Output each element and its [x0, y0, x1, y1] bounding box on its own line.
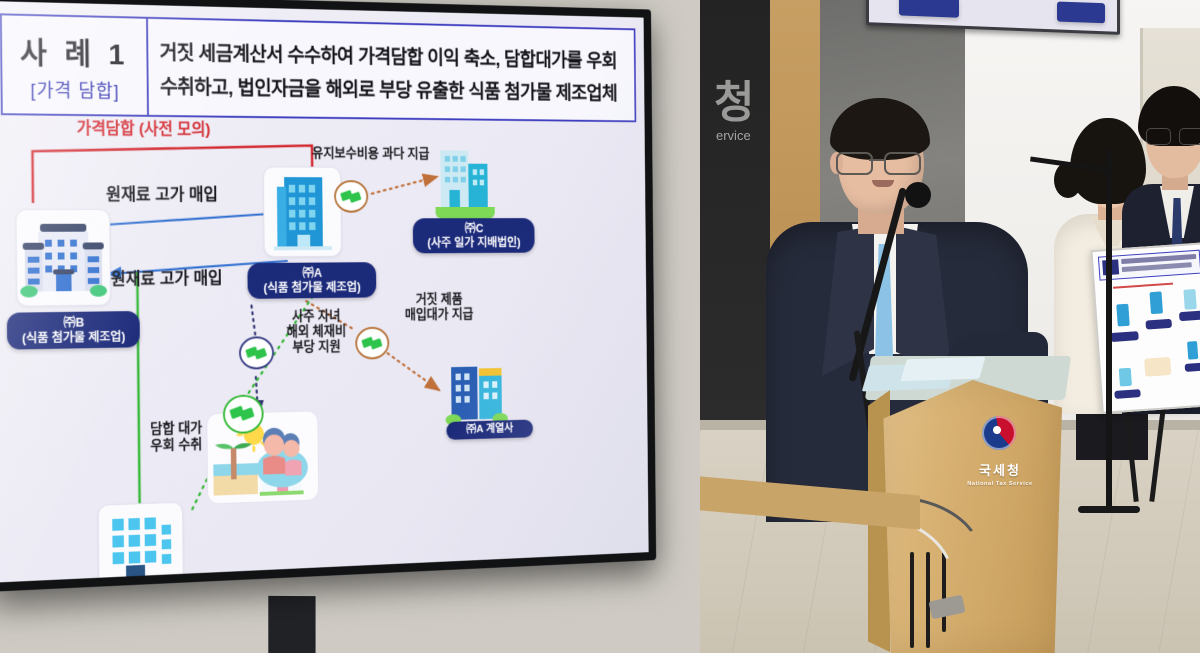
edge-label-maintenance-fee: 유지보수비용 과다 지급 — [312, 146, 430, 162]
money-icon-maintenance — [334, 180, 368, 213]
title-line-1: 거짓 세금계산서 수수하여 가격담합 이익 축소, 담합대가를 우회 — [159, 35, 624, 73]
slide-header: 사 례 1 [가격 담합] 거짓 세금계산서 수수하여 가격담합 이익 축소, … — [0, 13, 636, 122]
podium-paper-2 — [900, 357, 985, 382]
node-company-a-line1: ㈜A — [302, 266, 322, 280]
edge-label-overseas-line1: 사주 자녀 — [286, 308, 346, 324]
podium-agency-name-ko: 국세청 — [979, 463, 1021, 478]
banknote-glyph — [243, 340, 271, 366]
title-line-2: 수취하고, 법인자금을 해외로 부당 유출한 식품 첨가물 제조업체 — [160, 69, 625, 105]
case-tag: [가격 담합] — [30, 75, 119, 103]
edge-label-kickback: 담합 대가 우회 수취 — [150, 419, 202, 453]
board-icon-a — [1149, 291, 1163, 314]
speaker-hair — [830, 98, 930, 160]
overseas-family-illustration-icon — [207, 411, 318, 503]
edge-label-overseas-line3: 부당 지원 — [287, 339, 347, 356]
node-company-a-affiliate-label: ㈜A 계열사 — [466, 423, 513, 436]
money-icon-fake-goods — [355, 327, 389, 360]
board-header-line-2 — [1122, 262, 1192, 272]
tv-stand-neck — [268, 596, 315, 653]
presentation-display: 사 례 1 [가격 담합] 거짓 세금계산서 수수하여 가격담합 이익 축소, … — [0, 0, 656, 592]
microphone-head-icon — [905, 182, 931, 208]
mic-stand-pole — [1106, 150, 1112, 510]
edge-label-collusion: 가격담합 (사전 모의) — [77, 120, 211, 141]
board-chip-a — [1145, 319, 1172, 330]
speaker-mouth — [872, 180, 894, 187]
buildings-cyan-icon — [430, 143, 500, 219]
podium-agency-name-en: National Tax Service — [964, 481, 1036, 487]
board-chip-a-affiliate — [1185, 362, 1200, 372]
office-building-blue-icon — [264, 167, 341, 256]
board-header — [1098, 250, 1200, 281]
board-edge-red — [1113, 283, 1173, 289]
secondary-monitor-chip-right — [1057, 1, 1105, 23]
buildings-lightblue-icon — [99, 503, 183, 583]
board-chip-b — [1110, 331, 1139, 342]
icon-tile-company-a — [263, 166, 342, 257]
node-company-c-line1: ㈜C — [465, 222, 484, 235]
korea-government-emblem-icon — [982, 416, 1016, 450]
node-company-a-line2: (식품 첨가물 제조업) — [256, 280, 368, 295]
wall-sign-korean: 청 — [714, 66, 754, 130]
edge-label-kickback-line1: 담합 대가 — [150, 419, 202, 437]
mic-stand-foot — [1078, 506, 1140, 513]
man-glasses-icon — [1146, 128, 1200, 144]
edge-label-fake-goods-line1: 거짓 제품 — [405, 292, 474, 308]
node-company-c: ㈜C (사주 일가 지배법인) — [413, 218, 535, 253]
node-company-a-affiliate: ㈜A 계열사 — [446, 420, 533, 441]
icon-tile-company-c — [430, 143, 500, 219]
board-icon-b — [1116, 304, 1130, 327]
press-conference-photo: 청 ervice 사 례 1 [가격 담합] 거짓 세금계산서 수수하여 가격담… — [0, 0, 1200, 653]
board-chip-b-affiliate — [1114, 389, 1140, 399]
node-company-b: ㈜B (식품 첨가물 제조업) — [7, 311, 140, 350]
banknote-glyph — [227, 398, 259, 428]
edge-label-raw-material-2: 원재료 고가 매입 — [111, 269, 223, 290]
banknote-glyph — [359, 331, 386, 356]
slide-content: 사 례 1 [가격 담합] 거짓 세금계산서 수수하여 가격담합 이익 축소, … — [0, 1, 649, 582]
node-company-c-line2: (사주 일가 지배법인) — [421, 235, 527, 249]
board-icon-a-affiliate — [1187, 341, 1198, 360]
wall-sign-english: ervice — [716, 128, 751, 143]
case-flow-diagram: ㈜B (식품 첨가물 제조업) — [1, 113, 637, 574]
node-company-b-line2: (식품 첨가물 제조업) — [16, 329, 132, 345]
edge-label-raw-material-1: 원재료 고가 매입 — [106, 185, 218, 205]
buildings-blue-yellow-icon — [442, 357, 512, 430]
money-icon-overseas-support — [239, 336, 274, 370]
podium-agency-name: 국세청 National Tax Service — [964, 460, 1036, 487]
node-company-a: ㈜A (식품 첨가물 제조업) — [247, 262, 376, 299]
board-icon-family — [1144, 357, 1171, 377]
tv-screen: 사 례 1 [가격 담합] 거짓 세금계산서 수수하여 가격담합 이익 축소, … — [0, 1, 649, 582]
slide-header-title: 거짓 세금계산서 수수하여 가격담합 이익 축소, 담합대가를 우회 수취하고,… — [148, 19, 635, 121]
icon-tile-overseas-family — [206, 410, 319, 504]
case-number: 사 례 1 — [20, 27, 130, 73]
edge-label-overseas-support: 사주 자녀 해외 체재비 부당 지원 — [286, 308, 346, 356]
board-icon-b-affiliate — [1119, 368, 1132, 387]
factory-building-navy-icon — [17, 210, 111, 306]
board-chip-c — [1179, 311, 1200, 322]
edge-label-fake-goods: 거짓 제품 매입대가 지급 — [405, 292, 474, 323]
board-icon-c — [1183, 289, 1196, 310]
edge-label-overseas-line2: 해외 체재비 — [286, 324, 346, 340]
secondary-monitor-chip-left — [899, 0, 959, 18]
edge-label-fake-goods-line2: 매입대가 지급 — [405, 307, 474, 323]
edge-label-kickback-line2: 우회 수취 — [150, 435, 202, 453]
slide-header-case: 사 례 1 [가격 담합] — [2, 15, 149, 115]
node-company-b-line1: ㈜B — [63, 316, 84, 330]
speaker-glasses-icon — [836, 152, 920, 172]
icon-tile-company-a-affiliate — [442, 357, 512, 430]
icon-tile-company-b-affiliate — [98, 502, 184, 583]
icon-tile-company-b — [16, 209, 112, 307]
banknote-glyph — [338, 184, 365, 209]
